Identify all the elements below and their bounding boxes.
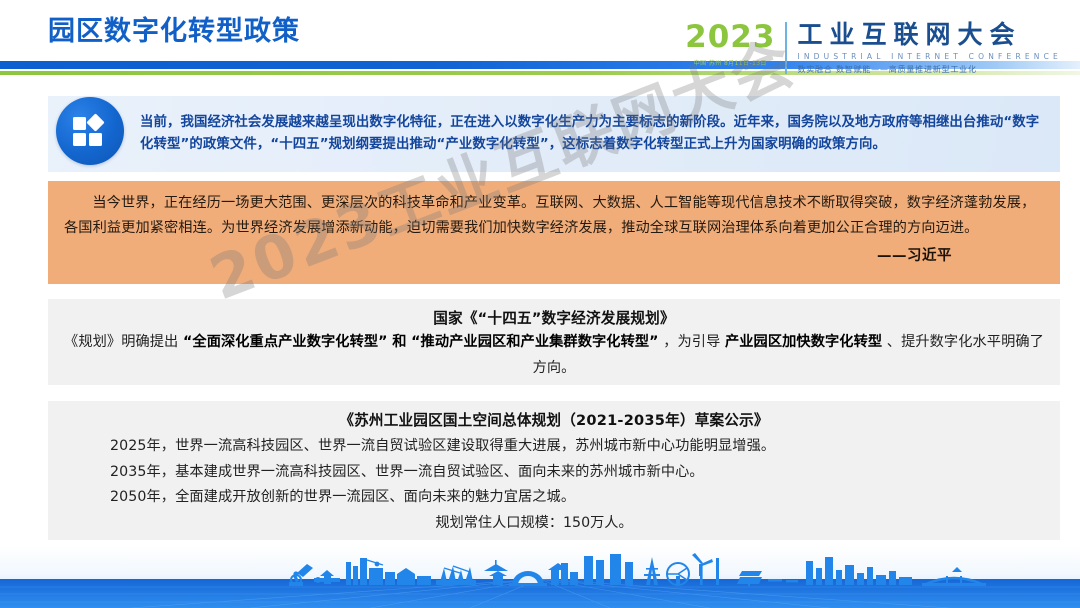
- quote-box: 当今世界，正在经历一场更大范围、更深层次的科技革命和产业变革。互联网、大数据、人…: [48, 181, 1060, 284]
- logo-year: 2023: [685, 22, 775, 53]
- national-plan-conjunction: 和: [392, 334, 406, 350]
- logo-main-block: 工业互联网大会 INDUSTRIAL INTERNET CONFERENCE 数…: [797, 22, 1062, 75]
- quote-text: 当今世界，正在经历一场更大范围、更深层次的科技革命和产业变革。互联网、大数据、人…: [64, 191, 1044, 242]
- conference-logo: 2023 中国·苏州 8月11日-13日 工业互联网大会 INDUSTRIAL …: [685, 22, 1062, 74]
- quote-attribution: ——习近平: [64, 244, 1044, 265]
- footer-skyline-svg: [0, 546, 1080, 608]
- grid-squares-icon: [73, 115, 107, 147]
- grid-square-bottom-right: [89, 133, 102, 146]
- suzhou-plan-lines: 2025年，世界一流高科技园区、世界一流自贸试验区建设取得重大进展，苏州城市新中…: [62, 434, 1046, 510]
- logo-year-subtitle: 中国·苏州 8月11日-13日: [694, 58, 767, 67]
- page-title: 园区数字化转型政策: [48, 16, 300, 47]
- grid-square-bottom-left: [73, 133, 86, 146]
- footer-skyline: [0, 546, 1080, 608]
- list-item: 2050年，全面建成开放创新的世界一流园区、面向未来的魅力宜居之城。: [110, 485, 1046, 510]
- logo-year-block: 2023 中国·苏州 8月11日-13日: [685, 22, 785, 67]
- national-plan-bold-tail: 产业园区加快数字化转型: [725, 334, 882, 350]
- logo-name-en: INDUSTRIAL INTERNET CONFERENCE: [797, 52, 1062, 61]
- suzhou-population-target: 规划常住人口规模：150万人。: [62, 511, 1046, 536]
- list-item: 2025年，世界一流高科技园区、世界一流自贸试验区建设取得重大进展，苏州城市新中…: [110, 434, 1046, 459]
- logo-slogan: 数实融合 数智赋能——高质量推进新型工业化: [797, 64, 1062, 75]
- suzhou-plan-heading: 《苏州工业园区国土空间总体规划（2021-2035年）草案公示》: [62, 409, 1046, 432]
- intro-icon-badge: [56, 97, 124, 165]
- suzhou-plan-panel: 《苏州工业园区国土空间总体规划（2021-2035年）草案公示》 2025年，世…: [48, 401, 1060, 540]
- slide-root: 园区数字化转型政策 2023 中国·苏州 8月11日-13日 工业互联网大会 I…: [0, 0, 1080, 608]
- intro-text: 当前，我国经济社会发展越来越呈现出数字化特征，正在进入以数字化生产力为主要标志的…: [140, 112, 1048, 155]
- national-plan-quote-b: “推动产业园区和产业集群数字化转型”: [411, 334, 658, 350]
- national-plan-heading: 国家《“十四五”数字经济发展规划》: [62, 307, 1046, 330]
- national-plan-body: 《规划》明确提出 “全面深化重点产业数字化转型” 和 “推动产业园区和产业集群数…: [62, 330, 1046, 381]
- list-item: 2035年，基本建成世界一流高科技园区、世界一流自贸试验区、面向未来的苏州城市新…: [110, 460, 1046, 485]
- grid-diamond-top-right: [86, 113, 104, 131]
- intro-banner: 当前，我国经济社会发展越来越呈现出数字化特征，正在进入以数字化生产力为主要标志的…: [48, 96, 1060, 172]
- logo-name-cn: 工业互联网大会: [797, 22, 1062, 47]
- national-plan-quote-a: “全面深化重点产业数字化转型”: [183, 334, 388, 350]
- national-plan-prefix: 《规划》明确提出: [64, 334, 178, 350]
- national-plan-panel: 国家《“十四五”数字经济发展规划》 《规划》明确提出 “全面深化重点产业数字化转…: [48, 299, 1060, 385]
- logo-divider: [785, 22, 787, 74]
- grid-square-top-left: [73, 117, 86, 130]
- national-plan-middle: ，为引导: [663, 334, 720, 350]
